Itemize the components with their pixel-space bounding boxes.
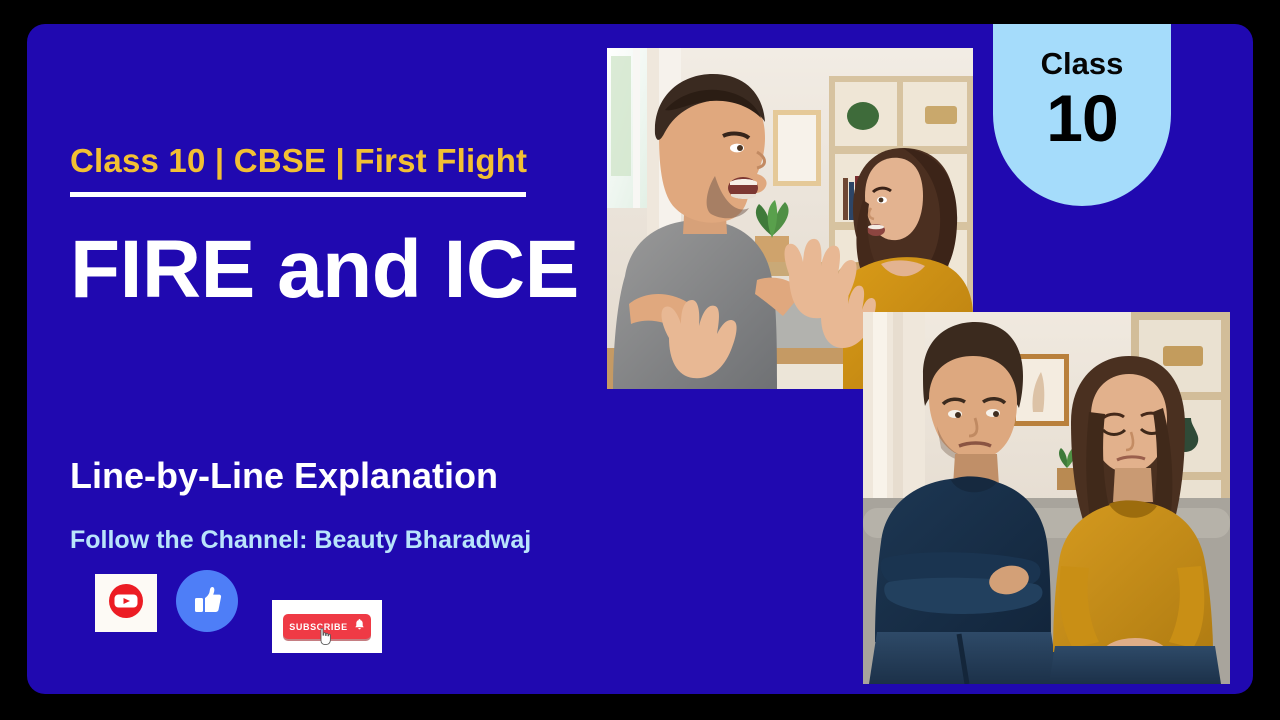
subscribe-card: SUBSCRIBE xyxy=(272,600,382,653)
class-badge-label: Class xyxy=(993,46,1171,82)
class-badge: Class 10 xyxy=(993,24,1171,206)
social-row: SUBSCRIBE xyxy=(95,570,565,640)
channel-follow-text: Follow the Channel: Beauty Bharadwaj xyxy=(70,526,531,555)
thumbnail-canvas: Class 10 | CBSE | First Flight FIRE and … xyxy=(0,0,1280,720)
kicker-underline xyxy=(70,192,526,197)
blue-card: Class 10 | CBSE | First Flight FIRE and … xyxy=(27,24,1253,694)
class-badge-number: 10 xyxy=(993,80,1171,156)
youtube-play-icon xyxy=(105,580,147,627)
couple-cold-silence-photo xyxy=(863,312,1230,684)
subtitle-text: Line-by-Line Explanation xyxy=(70,455,498,497)
subscribe-button[interactable]: SUBSCRIBE xyxy=(283,614,371,639)
youtube-icon-tile[interactable] xyxy=(95,574,157,632)
like-button[interactable] xyxy=(176,570,238,632)
kicker-text: Class 10 | CBSE | First Flight xyxy=(70,142,527,180)
hand-cursor-icon xyxy=(317,628,333,646)
page-title: FIRE and ICE xyxy=(70,227,579,313)
bell-icon xyxy=(354,618,365,636)
text-column: Class 10 | CBSE | First Flight FIRE and … xyxy=(70,24,590,694)
thumbs-up-icon xyxy=(188,580,226,623)
